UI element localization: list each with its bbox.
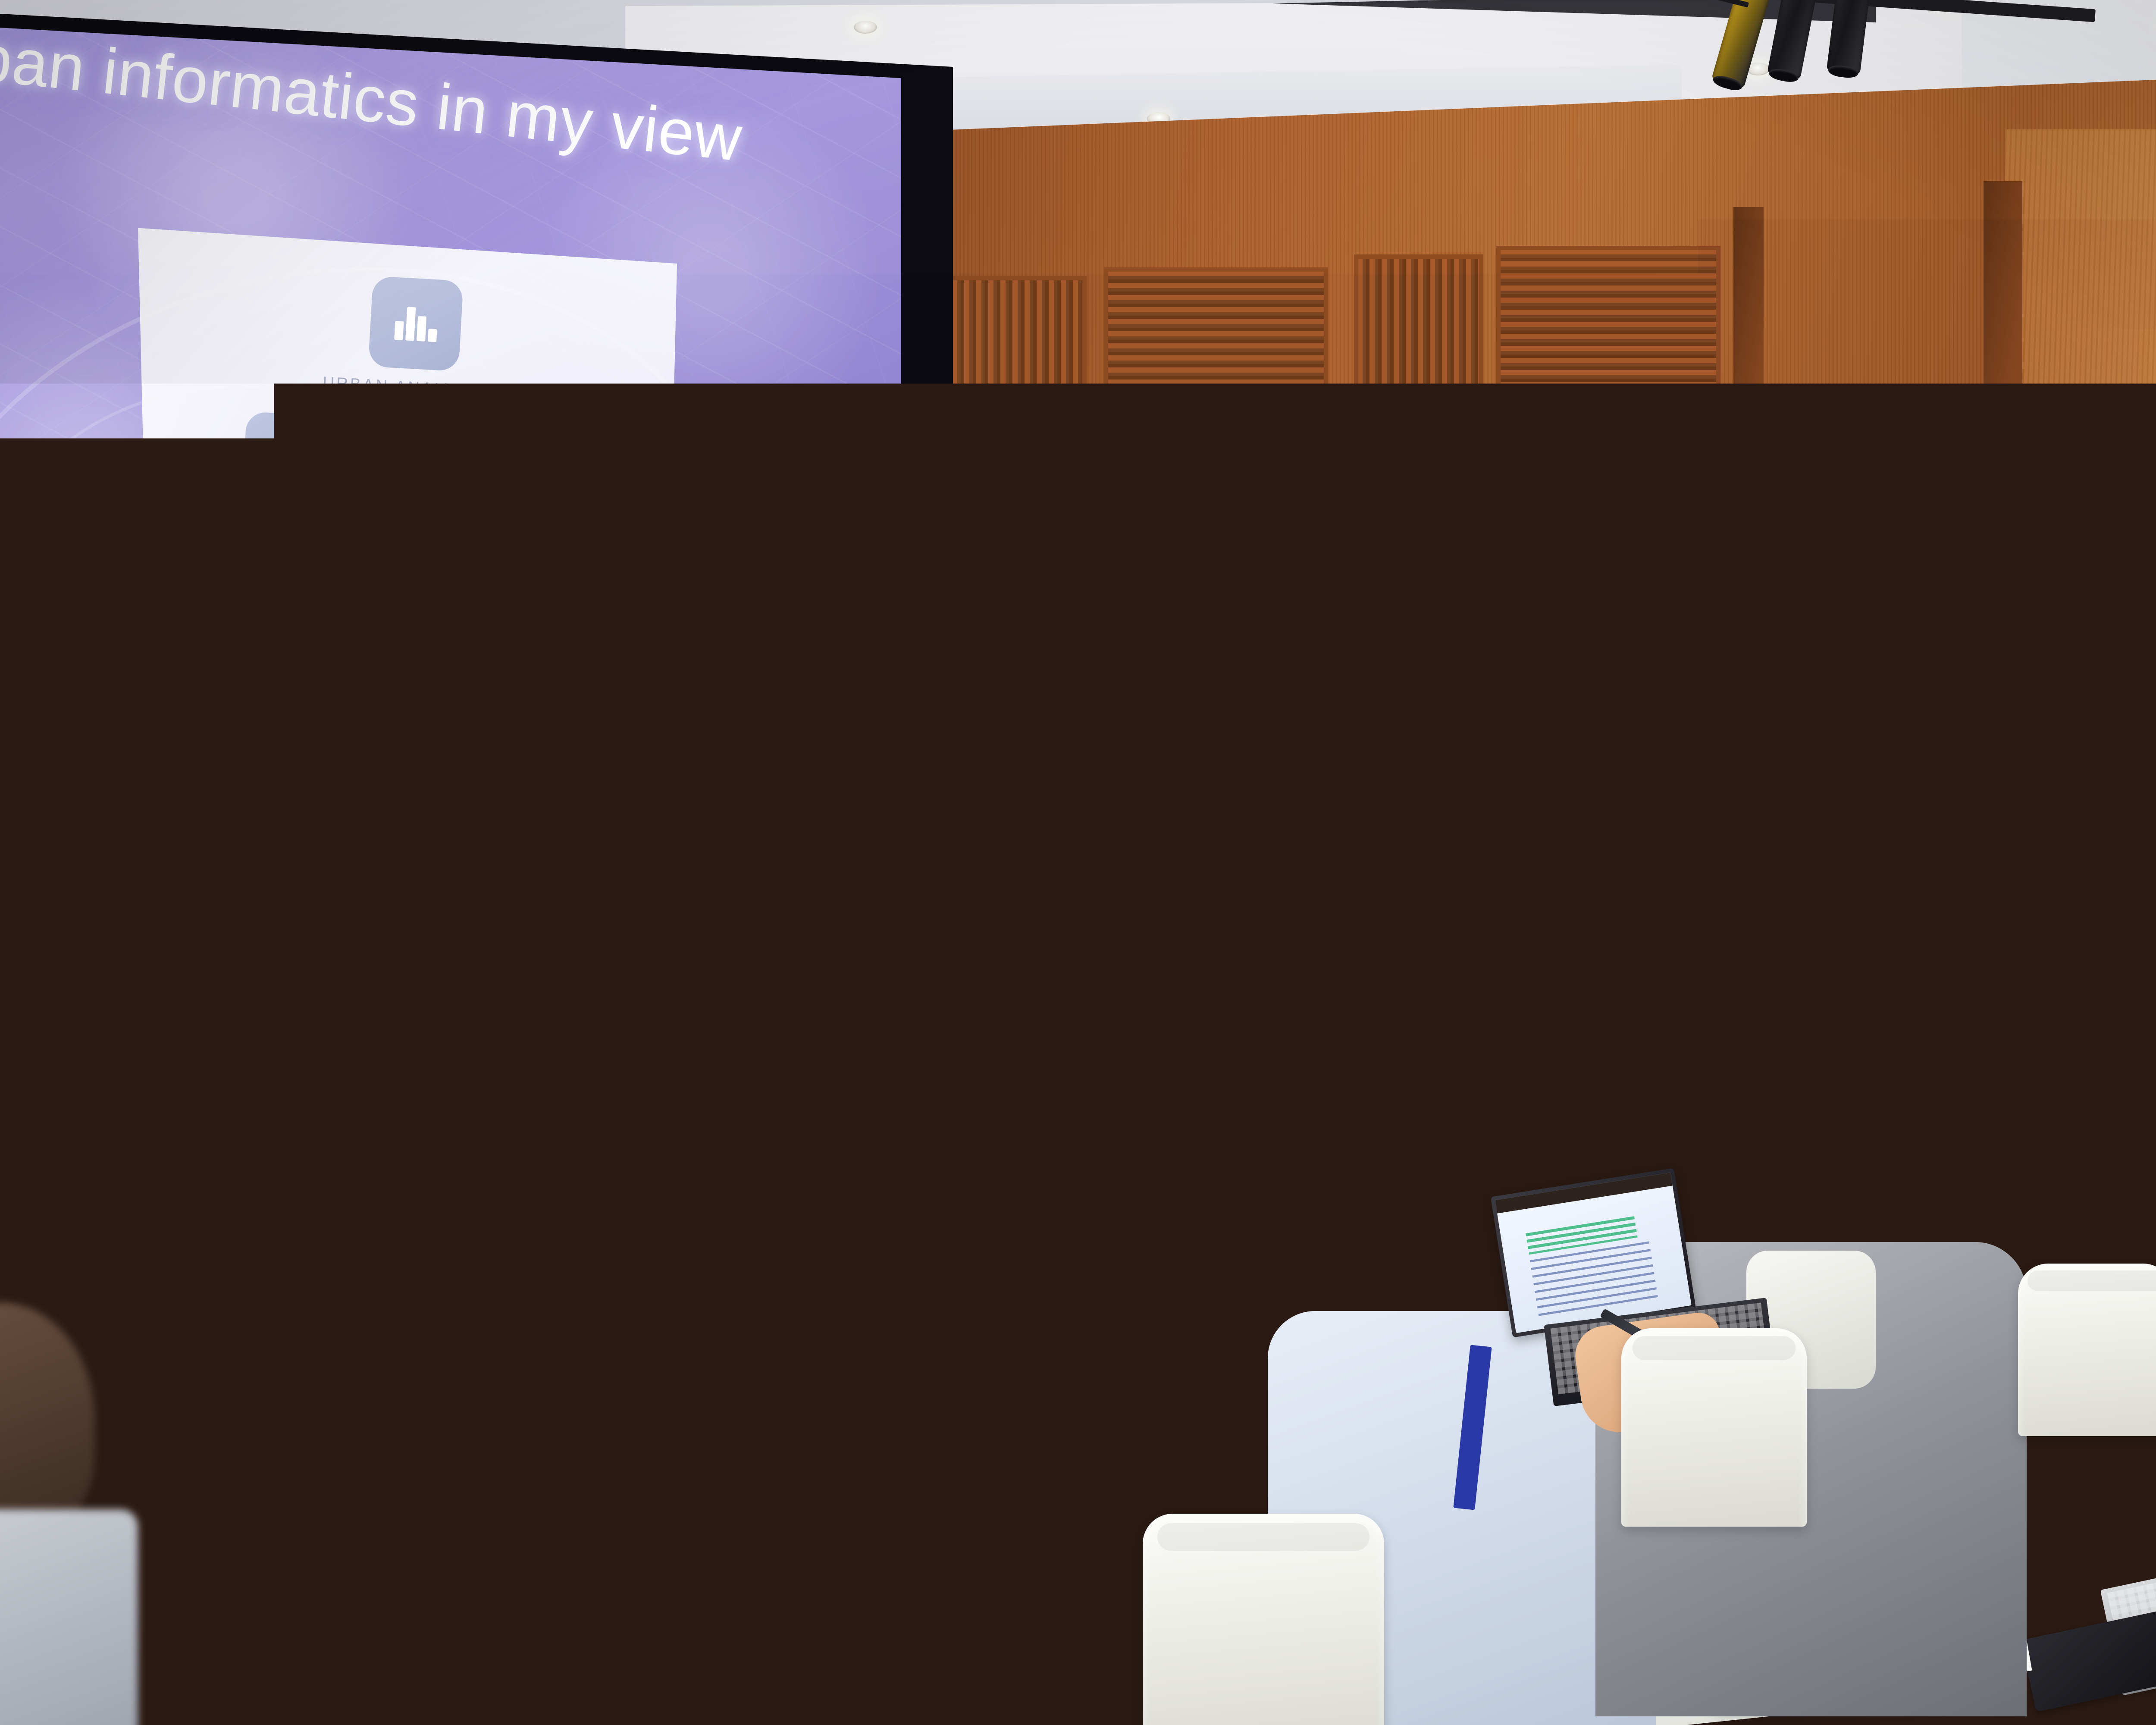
attendee-shirt	[470, 1294, 936, 1725]
glasses-icon	[1759, 1160, 1858, 1182]
node-tile-city	[356, 565, 451, 660]
glasses-icon	[1013, 973, 1048, 983]
attendee-head	[724, 1143, 841, 1307]
banquet-chair	[912, 964, 1003, 1205]
wifi-icon	[265, 436, 314, 483]
node-label-urban-analytics: URBAN ANALYTICS	[321, 373, 503, 401]
wall-pillar	[1733, 207, 1764, 897]
bar-chart-icon	[391, 300, 440, 348]
red-flower	[319, 1285, 427, 1371]
attendee-torso	[0, 1509, 138, 1725]
node-tile-urban-sensing	[242, 411, 337, 507]
glasses-icon	[1138, 1207, 1242, 1232]
document-window	[1495, 1173, 1692, 1333]
wall-slat-grille	[1496, 246, 1720, 470]
bose-logo: BOSE	[1809, 574, 1851, 590]
node-label-city: CITY	[309, 662, 491, 693]
pastry	[2005, 1147, 2070, 1177]
downlight-icon	[854, 21, 877, 34]
cloud-icon	[502, 475, 552, 522]
bose-wall-speaker: BOSE	[1785, 485, 1872, 632]
banquet-chair[interactable]	[1143, 1514, 1384, 1725]
buildings-icon	[379, 589, 429, 636]
red-flower	[241, 1220, 341, 1302]
diagram-center-label: Urban Informatics	[338, 455, 483, 528]
water-bottle	[2040, 1044, 2069, 1134]
wall-slat-grille	[1104, 267, 1328, 492]
flower-basket	[181, 1432, 293, 1531]
tropical-leaf	[70, 1174, 141, 1323]
wall-slat-grille	[949, 276, 1087, 500]
red-ginger-flower	[319, 1117, 358, 1212]
wall-slat-grille	[1354, 254, 1483, 479]
wall-pillar	[1984, 181, 2022, 914]
speaker-mount-pole	[1065, 578, 1069, 819]
conference-room-photo: BOSE urban informatics in my view	[0, 0, 2156, 1725]
glasses-icon	[1239, 788, 1298, 806]
editor-code-area[interactable]	[293, 1431, 459, 1664]
node-label-urban-computing: URBAN COMPUTING	[476, 551, 659, 597]
laptop-screen[interactable]	[1495, 1173, 1692, 1333]
doc-text-lines	[1530, 1241, 1658, 1318]
node-tile-urban-computing	[479, 451, 574, 546]
tropical-leaf	[259, 1033, 375, 1231]
banquet-chair[interactable]	[2018, 1264, 2156, 1436]
tropical-leaf	[122, 1157, 206, 1301]
projection-screen: urban informatics in my view URBAN ANALY…	[0, 0, 901, 936]
attendee-head	[1711, 945, 1754, 997]
slide-diagram-card: URBAN ANALYTICS URBAN SENSING UR	[138, 218, 677, 727]
red-rose	[362, 1376, 431, 1440]
node-tile-urban-analytics	[368, 276, 464, 371]
banquet-chair[interactable]	[1621, 1328, 1807, 1527]
water-bottle	[2104, 1035, 2134, 1126]
